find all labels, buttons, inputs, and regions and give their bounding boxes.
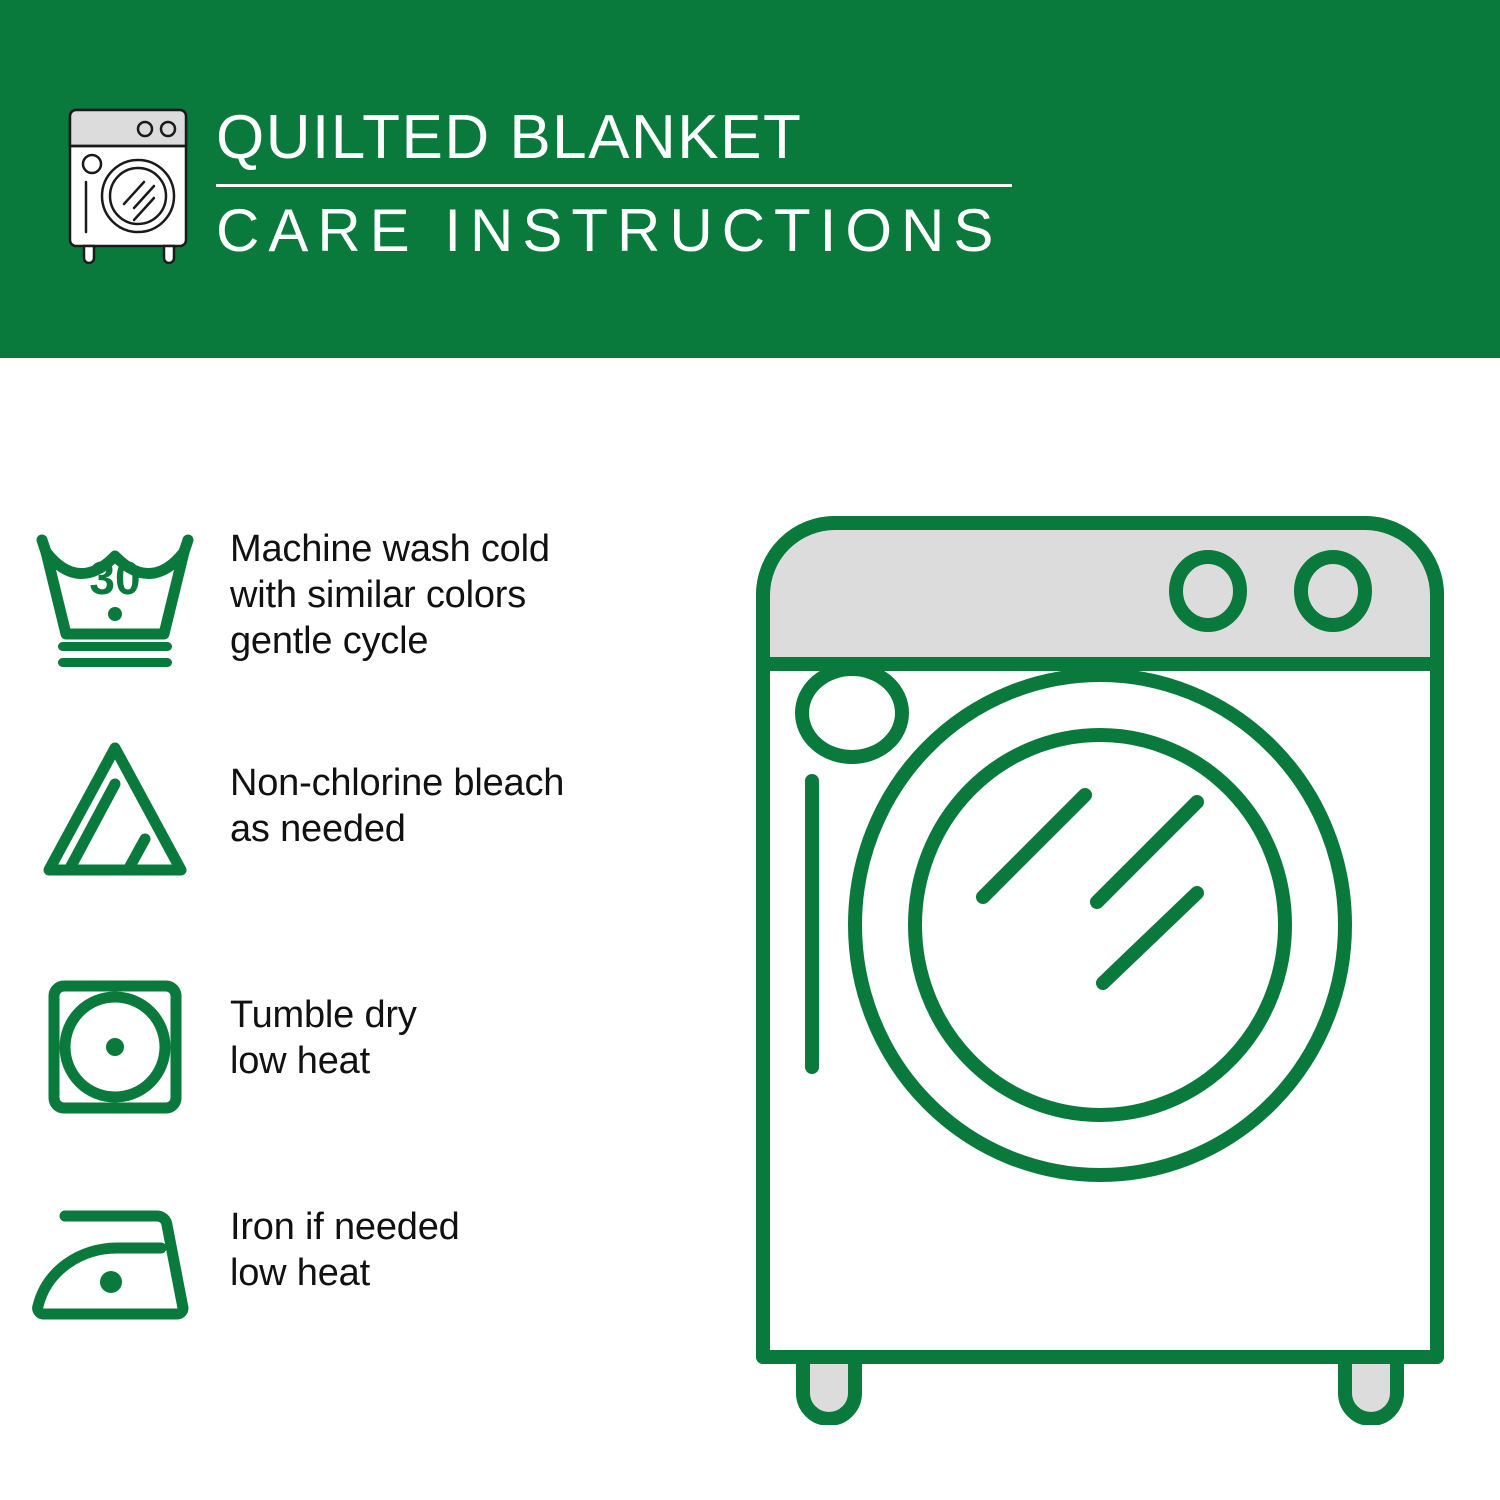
header-washing-machine-icon [64,104,196,264]
machine-leg-right [1345,1357,1397,1419]
care-row-iron: Iron if needed low heat [0,1186,740,1330]
care-row-tumble-dry: Tumble dry low heat [0,968,740,1122]
wash-temperature-value: 30 [89,552,140,604]
care-label-line: as needed [230,806,564,852]
care-label-tumble-dry: Tumble dry low heat [230,968,417,1084]
care-label-line: Machine wash cold [230,526,550,572]
title-divider [216,184,1012,187]
care-label-line: Iron if needed [230,1204,460,1250]
wash-tub-30-gentle-icon: 30 [0,518,230,672]
washing-machine-illustration [745,505,1455,1425]
care-label-machine-wash: Machine wash cold with similar colors ge… [230,518,550,664]
bleach-triangle-nonchlorine-icon [0,730,230,884]
care-label-line: Non-chlorine bleach [230,760,564,806]
care-label-line: gentle cycle [230,618,550,664]
care-label-bleach: Non-chlorine bleach as needed [230,730,564,852]
tumble-dry-low-icon [0,968,230,1122]
machine-control-panel [770,530,1430,657]
care-row-machine-wash: 30 Machine wash cold with similar colors… [0,518,740,672]
care-label-line: with similar colors [230,572,550,618]
care-instructions-list: 30 Machine wash cold with similar colors… [0,358,740,1500]
care-label-line: low heat [230,1250,460,1296]
page-subtitle: CARE INSTRUCTIONS [216,194,1026,268]
page-title: QUILTED BLANKET [216,100,1026,176]
care-label-iron: Iron if needed low heat [230,1186,460,1296]
machine-leg-left [803,1357,855,1419]
care-instructions-page: QUILTED BLANKET CARE INSTRUCTIONS 30 [0,0,1500,1500]
care-row-bleach: Non-chlorine bleach as needed [0,730,740,884]
header-title-block: QUILTED BLANKET CARE INSTRUCTIONS [216,100,1026,268]
care-label-line: low heat [230,1038,417,1084]
header-banner: QUILTED BLANKET CARE INSTRUCTIONS [0,0,1500,358]
care-label-line: Tumble dry [230,992,417,1038]
iron-low-heat-icon [0,1186,230,1330]
